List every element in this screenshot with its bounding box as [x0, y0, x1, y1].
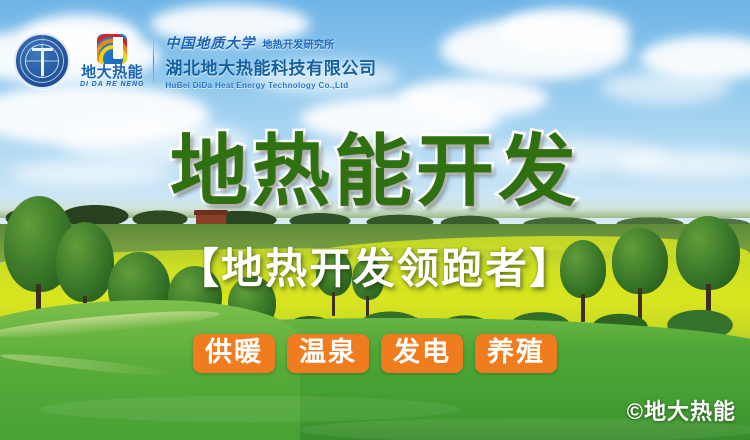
service-tag-hotspring[interactable]: 温泉 — [287, 334, 369, 373]
service-tag-heating[interactable]: 供暖 — [193, 334, 275, 373]
page-subtitle: 【地热开发领跑者】 — [0, 248, 750, 290]
company-logomark: 地大热能 DI DA RE NENG — [80, 34, 144, 88]
logo-text-pinyin: DI DA RE NENG — [80, 81, 144, 88]
university-name: 中国地质大学 — [165, 33, 255, 53]
company-name-cn: 湖北地大热能科技有限公司 — [165, 54, 376, 79]
brand-header: 地大热能 DI DA RE NENG 中国地质大学 地热开发研究所 湖北地大热能… — [14, 28, 377, 94]
cloud-shape — [398, 78, 548, 118]
organization-text-block: 中国地质大学 地热开发研究所 湖北地大热能科技有限公司 HuBei DiDa H… — [165, 33, 376, 90]
mown-stripe — [40, 396, 460, 422]
rainbow-cube-icon — [97, 34, 127, 64]
company-name-en: HuBei DiDa Heat Energy Technology Co.,Lt… — [165, 81, 376, 90]
institute-name: 地热开发研究所 — [262, 36, 334, 51]
university-seal-icon — [14, 33, 70, 89]
vertical-divider — [153, 36, 154, 86]
copyright-watermark: ©地大热能 — [627, 394, 736, 426]
service-tag-list: 供暖 温泉 发电 养殖 — [0, 334, 750, 373]
geothermal-promo-banner: 地大热能 DI DA RE NENG 中国地质大学 地热开发研究所 湖北地大热能… — [0, 0, 750, 440]
cloud-shape — [500, 8, 630, 54]
page-title: 地热能开发 — [0, 132, 750, 210]
service-tag-power[interactable]: 发电 — [381, 334, 463, 373]
service-tag-aquaculture[interactable]: 养殖 — [475, 334, 557, 373]
logo-text-cn: 地大热能 — [81, 65, 143, 81]
distant-barn — [196, 214, 226, 224]
